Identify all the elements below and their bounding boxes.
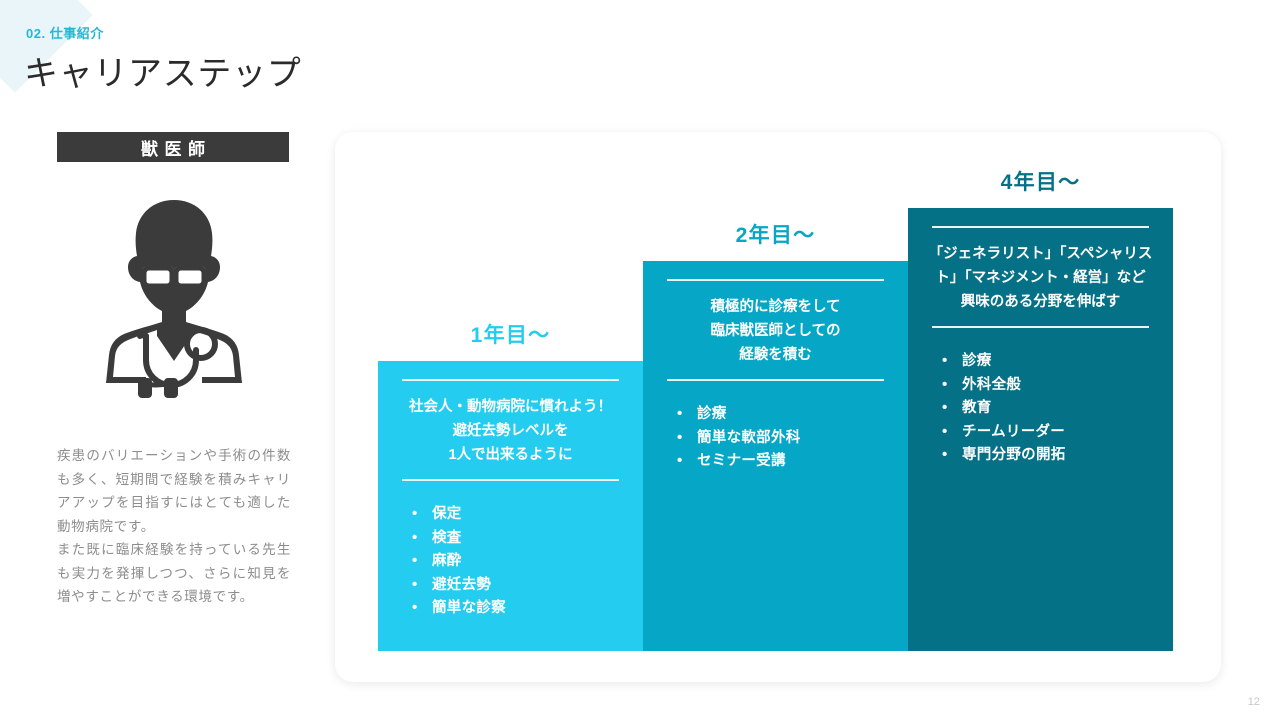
list-item: 簡単な軟部外科 [675,427,892,451]
stage-year-label-2: 2年目〜 [643,219,908,261]
list-item: 診療 [940,350,1157,374]
list-item: 麻酔 [410,550,627,574]
list-item: 保定 [410,503,627,527]
stage-item-list-3: 診療 外科全般 教育 チームリーダー 専門分野の開拓 [924,328,1157,468]
list-item: 検査 [410,527,627,551]
stage-column-2[interactable]: 2年目〜 積極的に診療をして 臨床獣医師としての 経験を積む 診療 簡単な軟部外… [643,219,908,651]
career-stage-chart: 1年目〜 社会人・動物病院に慣れよう！ 避妊去勢レベルを 1人で出来るように 保… [378,160,1173,651]
page-number: 12 [1248,696,1260,708]
section-eyebrow: 02. 仕事紹介 [26,23,104,42]
list-item: 外科全般 [940,374,1157,398]
stage-column-3[interactable]: 4年目〜 「ジェネラリスト」「スペシャリス ト」「マネジメント・経営」など 興味… [908,166,1173,651]
stage-item-list-1: 保定 検査 麻酔 避妊去勢 簡単な診察 [394,481,627,621]
stage-item-list-2: 診療 簡単な軟部外科 セミナー受講 [659,381,892,474]
doctor-avatar-icon [88,192,260,407]
stage-summary-1: 社会人・動物病院に慣れよう！ 避妊去勢レベルを 1人で出来るように [394,381,627,479]
list-item: セミナー受講 [675,450,892,474]
profile-description: 疾患のバリエーションや手術の件数も多く、短期間で経験を積みキャリアアップを目指す… [57,444,291,609]
stage-year-label-1: 1年目〜 [378,319,643,361]
stage-summary-3: 「ジェネラリスト」「スペシャリス ト」「マネジメント・経営」など 興味のある分野… [924,228,1157,326]
role-badge: 獣医師 [57,132,289,162]
list-item: 診療 [675,403,892,427]
list-item: 避妊去勢 [410,574,627,598]
list-item: 教育 [940,397,1157,421]
stage-body-1: 社会人・動物病院に慣れよう！ 避妊去勢レベルを 1人で出来るように 保定 検査 … [378,361,643,651]
stage-summary-2: 積極的に診療をして 臨床獣医師としての 経験を積む [659,281,892,379]
page-title: キャリアステップ [24,46,301,95]
stage-body-3: 「ジェネラリスト」「スペシャリス ト」「マネジメント・経営」など 興味のある分野… [908,208,1173,651]
list-item: 簡単な診察 [410,597,627,621]
stage-column-1[interactable]: 1年目〜 社会人・動物病院に慣れよう！ 避妊去勢レベルを 1人で出来るように 保… [378,319,643,651]
list-item: チームリーダー [940,421,1157,445]
stage-body-2: 積極的に診療をして 臨床獣医師としての 経験を積む 診療 簡単な軟部外科 セミナ… [643,261,908,651]
list-item: 専門分野の開拓 [940,444,1157,468]
stage-year-label-3: 4年目〜 [908,166,1173,208]
